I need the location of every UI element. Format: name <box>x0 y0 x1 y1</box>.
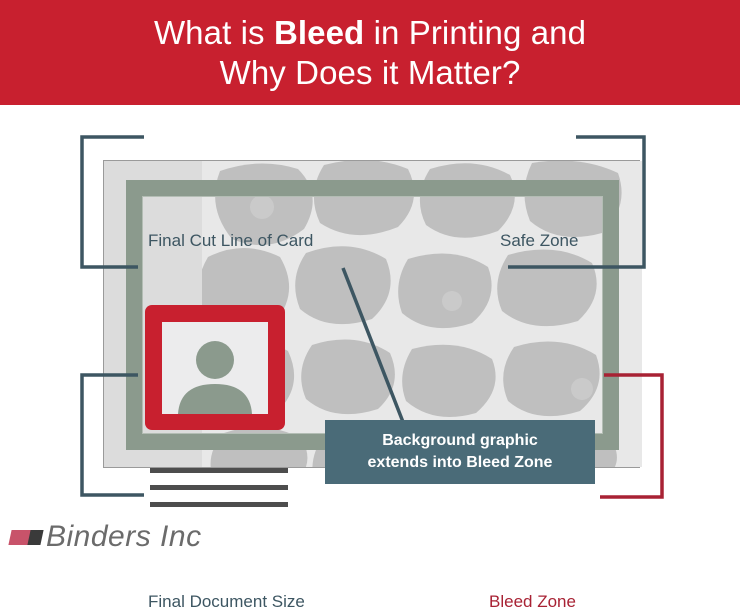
id-photo-frame <box>145 305 285 430</box>
title-part-2: in Printing and <box>364 14 586 51</box>
safe-zone-bracket <box>398 133 648 273</box>
card-text-line <box>150 502 288 507</box>
card-text-line <box>150 485 288 490</box>
callout-leader-line <box>340 265 410 425</box>
label-final-document-size: Final Document Size <box>148 592 305 612</box>
logo-mark-icon <box>10 528 44 547</box>
header-banner: What is Bleed in Printing and Why Does i… <box>0 0 740 105</box>
label-bleed-zone: Bleed Zone <box>489 592 576 612</box>
title-line-2: Why Does it Matter? <box>220 54 521 91</box>
label-safe-zone: Safe Zone <box>500 231 578 251</box>
title-emphasis: Bleed <box>274 14 364 51</box>
company-logo: Binders Inc <box>10 520 202 554</box>
diagram-stage: Background graphic extends into Bleed Zo… <box>0 105 740 555</box>
person-icon <box>172 336 258 414</box>
logo-text: Binders Inc <box>46 520 202 554</box>
callout-line-1: Background graphic <box>382 430 538 452</box>
card-text-line <box>150 468 288 473</box>
page-title: What is Bleed in Printing and Why Does i… <box>154 13 586 93</box>
label-final-cut-line: Final Cut Line of Card <box>148 231 313 251</box>
title-part-1: What is <box>154 14 274 51</box>
cut-line-bracket <box>78 133 148 273</box>
callout-box: Background graphic extends into Bleed Zo… <box>325 420 595 484</box>
id-photo-inner <box>162 322 268 414</box>
callout-line-2: extends into Bleed Zone <box>368 452 553 474</box>
document-size-bracket <box>78 371 148 499</box>
bleed-zone-bracket <box>598 369 668 501</box>
